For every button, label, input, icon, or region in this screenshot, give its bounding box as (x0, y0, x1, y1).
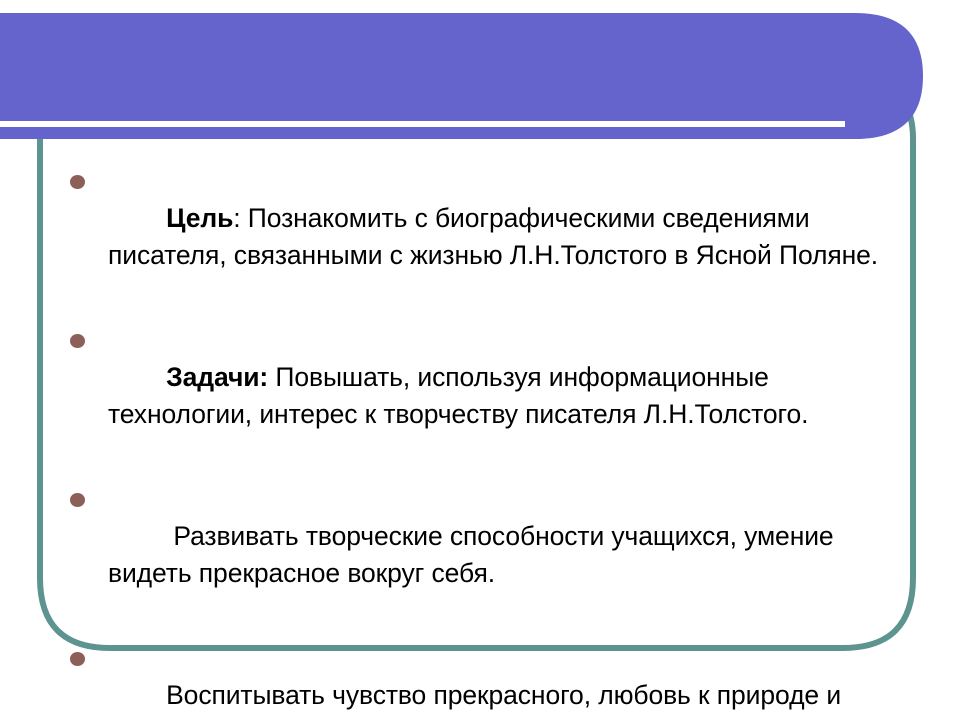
bullet-lead: Задачи: (166, 362, 268, 392)
list-item: Развивать творческие способности учащихс… (62, 480, 892, 630)
list-item: Задачи: Повышать, используя информационн… (62, 321, 892, 471)
list-item: Цель: Познакомить с биографическими свед… (62, 162, 892, 312)
bullet-dot-icon (70, 652, 85, 666)
bullet-dot-icon (70, 493, 85, 507)
bullet-separator: : (233, 203, 248, 233)
bullet-text: Развивать творческие способности учащихс… (108, 521, 841, 589)
banner-accent-line (0, 121, 845, 127)
bullet-dot-icon (70, 175, 85, 189)
bullet-text: Воспитывать чувство прекрасного, любовь … (108, 680, 848, 720)
bullet-dot-icon (70, 334, 85, 348)
bullet-list: Цель: Познакомить с биографическими свед… (62, 162, 892, 720)
list-item: Воспитывать чувство прекрасного, любовь … (62, 639, 892, 720)
slide-body: Цель: Познакомить с биографическими свед… (62, 162, 892, 720)
bullet-lead: Цель (166, 203, 233, 233)
presentation-slide: Цель: Познакомить с биографическими свед… (0, 0, 960, 720)
